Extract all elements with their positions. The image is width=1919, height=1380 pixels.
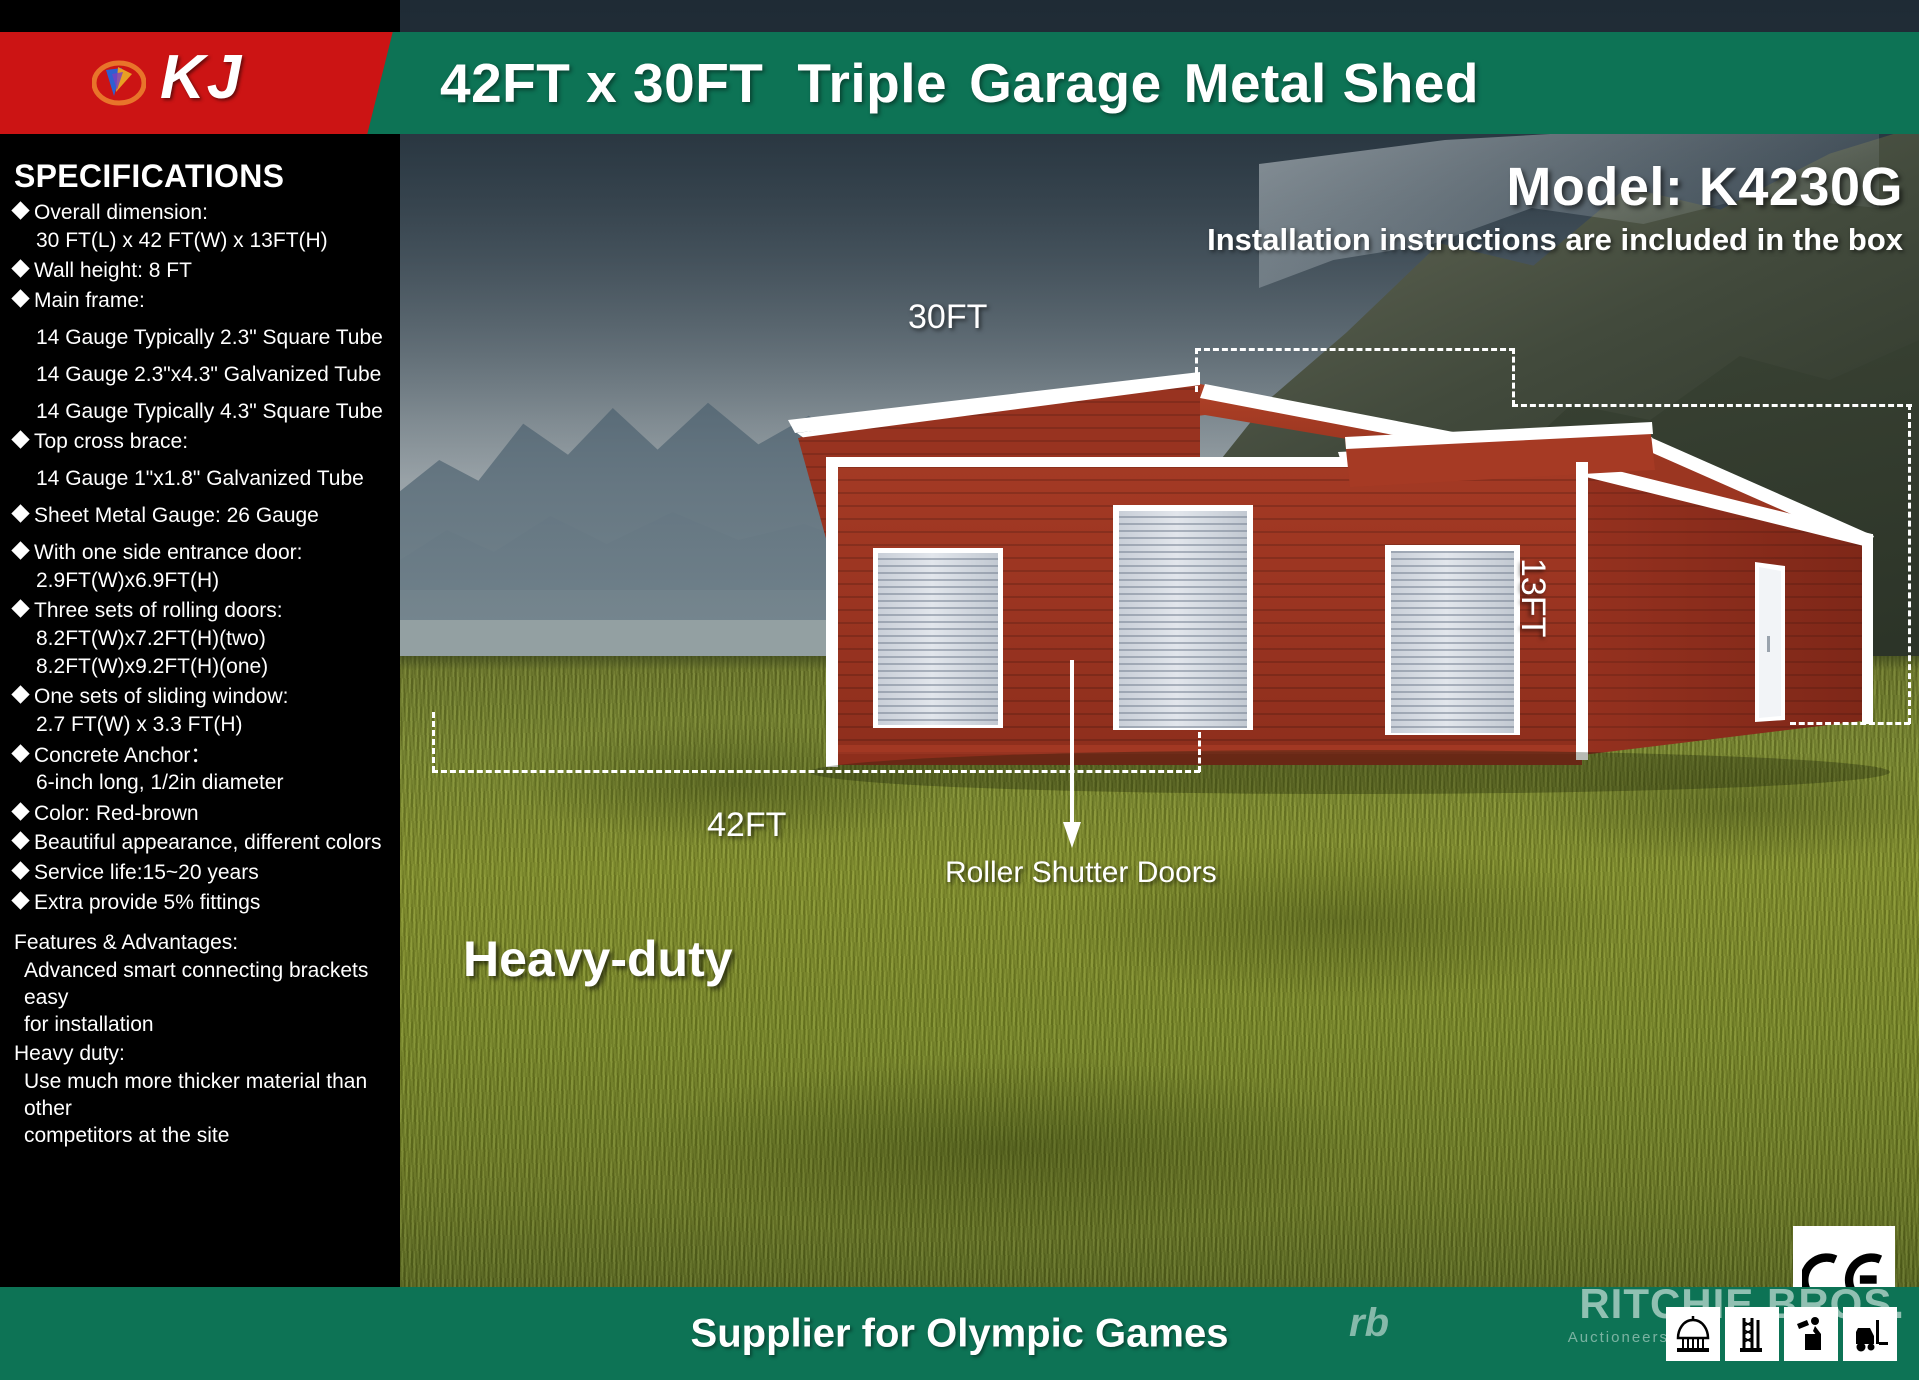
spec-item: Main frame:: [14, 287, 390, 315]
spec-item-label: Main frame:: [34, 287, 145, 315]
diamond-bullet-icon: [11, 259, 29, 277]
installation-note: Installation instructions are included i…: [1207, 222, 1903, 258]
kj-circle-logo-icon: [92, 58, 146, 108]
spec-item-detail: 6-inch long, 1/2in diameter: [36, 769, 390, 797]
diamond-bullet-icon: [11, 744, 29, 762]
dim-tick-length-left: [432, 712, 435, 772]
dim-tick-width-left: [1195, 348, 1198, 392]
title-word-triple: Triple: [797, 52, 947, 114]
roller-door-callout-arrow: [1040, 660, 1100, 850]
footer-icon-row: [1666, 1307, 1897, 1361]
features-line-1: Advanced smart connecting brackets easy: [24, 957, 390, 1012]
diamond-bullet-icon: [11, 600, 29, 618]
spec-item: Beautiful appearance, different colors: [14, 829, 390, 857]
forklift-icon: [1843, 1307, 1897, 1361]
specifications-panel: SPECIFICATIONS Overall dimension:30 FT(L…: [0, 134, 400, 1287]
diamond-bullet-icon: [11, 505, 29, 523]
title-word-metal-shed: Metal Shed: [1184, 52, 1479, 114]
spec-item-detail: 2.7 FT(W) x 3.3 FT(H): [36, 711, 390, 739]
heavy-duty-heading: Heavy duty:: [14, 1040, 390, 1067]
diamond-bullet-icon: [11, 802, 29, 820]
dim-line-height-vert: [1908, 404, 1911, 724]
auctioneer-icon: [1784, 1307, 1838, 1361]
spec-item-label: Service life:15~20 years: [34, 859, 259, 887]
brand-logo-text: KJ: [160, 42, 243, 113]
product-poster: KJ 42FT x 30FTTripleGarageMetal Shed SPE…: [0, 0, 1919, 1380]
spec-item: One sets of sliding window:: [14, 683, 390, 711]
spec-item-label: Wall height: 8 FT: [34, 257, 192, 285]
dimension-label-height: 13FT: [1513, 558, 1552, 637]
spec-item: Extra provide 5% fittings: [14, 889, 390, 917]
heavy-duty-tagline: Heavy-duty: [463, 930, 733, 988]
spec-item-detail: 14 Gauge Typically 4.3" Square Tube: [36, 398, 390, 426]
specifications-list: Overall dimension:30 FT(L) x 42 FT(W) x …: [14, 199, 390, 917]
diamond-bullet-icon: [11, 862, 29, 880]
model-number: Model: K4230G: [1506, 156, 1903, 218]
spec-item: Concrete Anchor：: [14, 742, 390, 770]
dimension-label-length: 42FT: [707, 806, 786, 845]
spec-item-detail: 14 Gauge 1"x1.8" Galvanized Tube: [36, 465, 390, 493]
diamond-bullet-icon: [11, 431, 29, 449]
spec-item-detail: 14 Gauge 2.3"x4.3" Galvanized Tube: [36, 361, 390, 389]
specifications-heading: SPECIFICATIONS: [14, 158, 390, 195]
watermark-subtitle: Auctioneers: [1568, 1329, 1669, 1346]
spec-item-label: Extra provide 5% fittings: [34, 889, 260, 917]
spec-item-detail: 8.2FT(W)x7.2FT(H)(two): [36, 625, 390, 653]
heavy-duty-line-1: Use much more thicker material than othe…: [24, 1068, 390, 1123]
title-dimensions: 42FT x 30FT: [440, 52, 763, 114]
features-heading: Features & Advantages:: [14, 929, 390, 956]
footer-tagline: Supplier for Olympic Games: [691, 1311, 1229, 1356]
spec-item: Wall height: 8 FT: [14, 257, 390, 285]
spec-item-detail: 8.2FT(W)x9.2FT(H)(one): [36, 653, 390, 681]
spec-item-detail: 14 Gauge Typically 2.3" Square Tube: [36, 324, 390, 352]
spec-item: Overall dimension:: [14, 199, 390, 227]
roller-shutter-doors-label: Roller Shutter Doors: [945, 856, 1217, 890]
spec-item-label: Sheet Metal Gauge: 26 Gauge: [34, 502, 319, 530]
spec-item-detail: 2.9FT(W)x6.9FT(H): [36, 567, 390, 595]
watermark-rb-mark: rb: [1349, 1301, 1389, 1346]
title-word-garage: Garage: [969, 52, 1162, 114]
spec-item-label: Three sets of rolling doors:: [34, 597, 283, 625]
spec-item: Sheet Metal Gauge: 26 Gauge: [14, 502, 390, 530]
dim-line-height-bottom: [1790, 722, 1910, 725]
features-line-2: for installation: [24, 1011, 390, 1038]
diamond-bullet-icon: [11, 542, 29, 560]
spec-item-label: One sets of sliding window:: [34, 683, 288, 711]
heavy-duty-line-2: competitors at the site: [24, 1122, 390, 1149]
dim-tick-length-right: [1198, 732, 1201, 772]
spec-item-label: Color: Red-brown: [34, 800, 199, 828]
spec-item-label: Concrete Anchor：: [34, 742, 211, 770]
header-bar: KJ 42FT x 30FTTripleGarageMetal Shed: [0, 32, 1919, 134]
spec-item: Three sets of rolling doors:: [14, 597, 390, 625]
page-title: 42FT x 30FTTripleGarageMetal Shed: [440, 51, 1479, 115]
dim-line-height-top: [1512, 404, 1912, 407]
spec-item-detail: 30 FT(L) x 42 FT(W) x 13FT(H): [36, 227, 390, 255]
diamond-bullet-icon: [11, 289, 29, 307]
spec-item-label: Overall dimension:: [34, 199, 208, 227]
spec-item-label: With one side entrance door:: [34, 539, 303, 567]
diamond-bullet-icon: [11, 832, 29, 850]
diamond-bullet-icon: [11, 892, 29, 910]
tower-crane-icon: [1725, 1307, 1779, 1361]
spec-item-label: Top cross brace:: [34, 428, 188, 456]
spec-item: Color: Red-brown: [14, 800, 390, 828]
dim-tick-width-right: [1512, 348, 1515, 406]
diamond-bullet-icon: [11, 201, 29, 219]
dim-line-width-top: [1195, 348, 1515, 351]
spec-item-label: Beautiful appearance, different colors: [34, 829, 382, 857]
spec-item: Service life:15~20 years: [14, 859, 390, 887]
diamond-bullet-icon: [11, 686, 29, 704]
dome-building-icon: [1666, 1307, 1720, 1361]
dimension-label-width: 30FT: [908, 298, 987, 337]
spec-item: With one side entrance door:: [14, 539, 390, 567]
spec-item: Top cross brace:: [14, 428, 390, 456]
